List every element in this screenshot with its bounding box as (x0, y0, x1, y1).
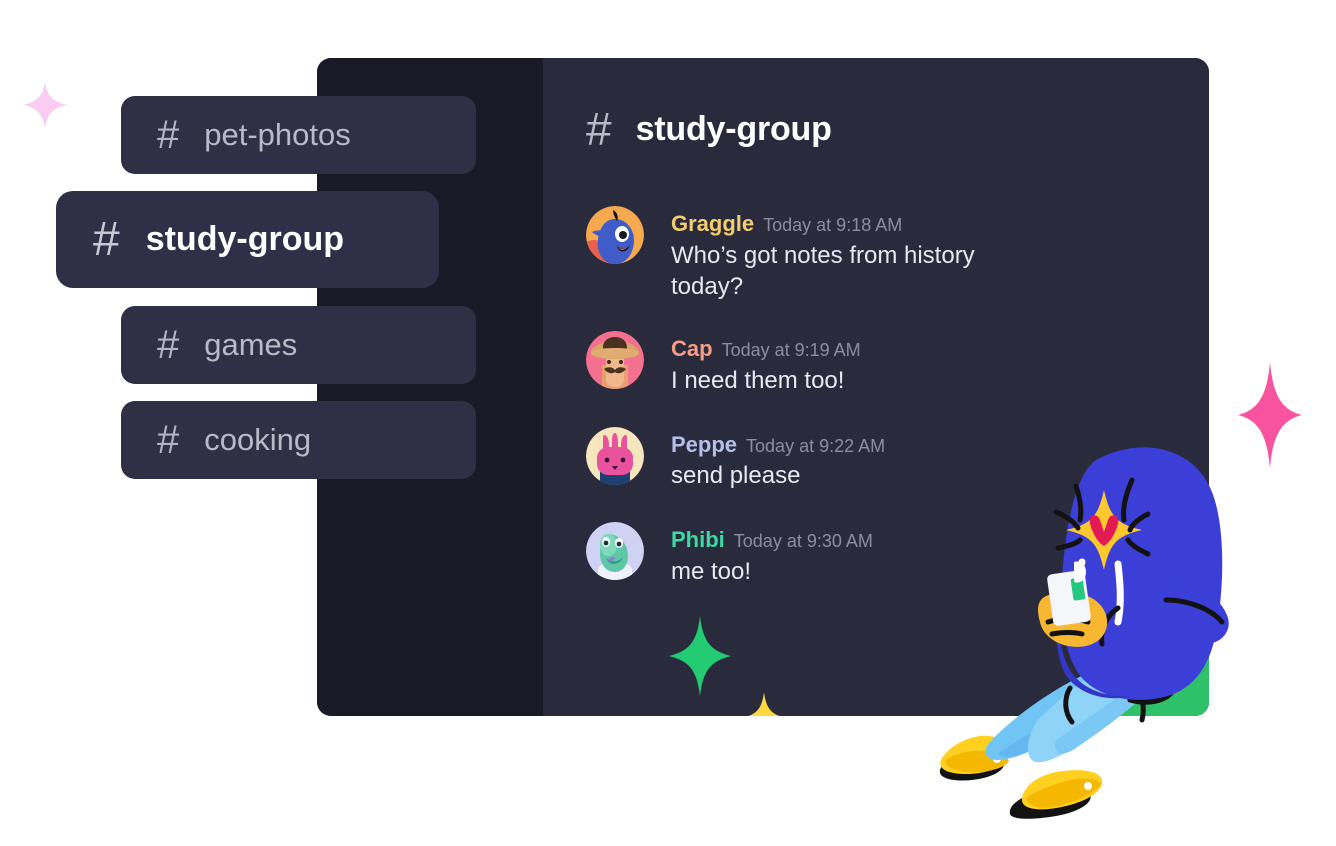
message-item: Graggle Today at 9:18 AM Who’s got notes… (586, 206, 1006, 303)
sparkle-pink-small-icon (22, 82, 68, 128)
message-meta: Peppe Today at 9:22 AM (671, 431, 885, 459)
message-author: Graggle (671, 210, 754, 238)
hash-icon: # (157, 325, 179, 365)
message-text: Who’s got notes from history today? (671, 240, 991, 304)
sidebar-item-games[interactable]: # games (121, 306, 476, 384)
beanbag-shape (1059, 566, 1209, 716)
message-item: Peppe Today at 9:22 AM send please (586, 427, 1006, 492)
message-timestamp: Today at 9:18 AM (763, 214, 902, 237)
sidebar-item-label: pet-photos (204, 117, 351, 153)
message-list: Graggle Today at 9:18 AM Who’s got notes… (586, 206, 1006, 606)
avatar-phibi[interactable] (586, 522, 644, 580)
message-text: I need them too! (671, 365, 861, 397)
message-author: Peppe (671, 431, 737, 459)
message-body: Phibi Today at 9:30 AM me too! (671, 522, 873, 587)
sparkle-green-icon (669, 616, 731, 696)
sidebar-item-pet-photos[interactable]: # pet-photos (121, 96, 476, 174)
hash-icon: # (586, 106, 612, 152)
message-timestamp: Today at 9:19 AM (722, 339, 861, 362)
hash-icon: # (93, 216, 120, 264)
sidebar-item-study-group[interactable]: # study-group (56, 191, 439, 288)
message-timestamp: Today at 9:22 AM (746, 435, 885, 458)
sparkle-yellow-icon (745, 692, 783, 716)
sparkle-pink-large-icon (1238, 362, 1302, 468)
avatar-peppe[interactable] (586, 427, 644, 485)
message-body: Cap Today at 9:19 AM I need them too! (671, 331, 861, 396)
message-author: Phibi (671, 526, 725, 554)
avatar-graggle[interactable] (586, 206, 644, 264)
message-meta: Cap Today at 9:19 AM (671, 335, 861, 363)
message-text: me too! (671, 556, 873, 588)
message-body: Graggle Today at 9:18 AM Who’s got notes… (671, 206, 991, 303)
hash-icon: # (157, 420, 179, 460)
message-timestamp: Today at 9:30 AM (734, 530, 873, 553)
message-body: Peppe Today at 9:22 AM send please (671, 427, 885, 492)
message-meta: Graggle Today at 9:18 AM (671, 210, 991, 238)
avatar-cap[interactable] (586, 331, 644, 389)
sidebar-item-cooking[interactable]: # cooking (121, 401, 476, 479)
message-item: Phibi Today at 9:30 AM me too! (586, 522, 1006, 587)
hash-icon: # (157, 115, 179, 155)
message-author: Cap (671, 335, 713, 363)
message-text: send please (671, 460, 885, 492)
sidebar-item-label: games (204, 327, 297, 363)
message-item: Cap Today at 9:19 AM I need them too! (586, 331, 1006, 396)
sidebar-item-label: study-group (146, 220, 344, 259)
sidebar-item-label: cooking (204, 422, 311, 458)
page-title: study-group (636, 110, 832, 149)
channel-header: # study-group (586, 106, 832, 152)
message-meta: Phibi Today at 9:30 AM (671, 526, 873, 554)
